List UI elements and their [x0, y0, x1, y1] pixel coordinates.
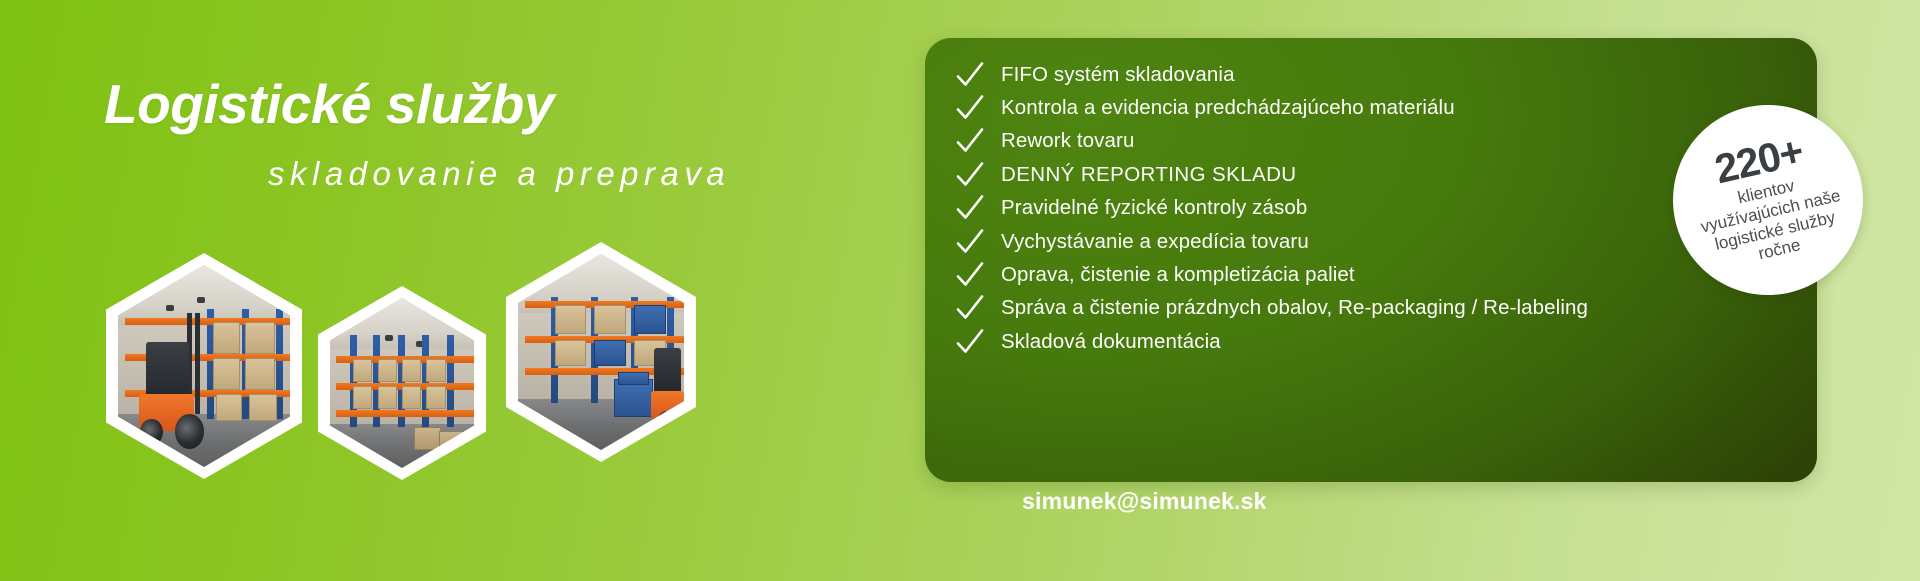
- check-icon: [953, 325, 987, 359]
- logistics-services-banner: Logistické služby skladovanie a preprava: [0, 0, 1920, 581]
- badge-description: klientov využívajúcich naše logistické s…: [1691, 166, 1855, 277]
- service-list-item: Rework tovaru: [953, 125, 1797, 158]
- check-icon: [953, 291, 987, 325]
- service-list-item: Skladová dokumentácia: [953, 325, 1797, 358]
- service-label: Vychystávanie a expedícia tovaru: [1001, 230, 1309, 254]
- check-icon: [953, 225, 987, 259]
- services-list: FIFO systém skladovaniaKontrola a eviden…: [953, 58, 1797, 359]
- warehouse-forklift-photo: [118, 265, 290, 467]
- services-panel: FIFO systém skladovaniaKontrola a eviden…: [925, 38, 1817, 482]
- check-icon: [953, 58, 987, 92]
- service-list-item: Pravidelné fyzické kontroly zásob: [953, 192, 1797, 225]
- hex-photo-frame-2: [318, 286, 486, 480]
- check-icon: [953, 158, 987, 192]
- service-list-item: Kontrola a evidencia predchádzajúceho ma…: [953, 91, 1797, 124]
- service-label: Oprava, čistenie a kompletizácia paliet: [1001, 263, 1355, 287]
- warehouse-blue-crates-photo: [518, 254, 684, 450]
- check-icon: [953, 258, 987, 292]
- service-list-item: Vychystávanie a expedícia tovaru: [953, 225, 1797, 258]
- service-label: FIFO systém skladovania: [1001, 63, 1235, 87]
- service-list-item: FIFO systém skladovania: [953, 58, 1797, 91]
- check-icon: [953, 91, 987, 125]
- service-label: Pravidelné fyzické kontroly zásob: [1001, 196, 1307, 220]
- hex-photo-frame-1: [106, 253, 302, 479]
- service-list-item: Správa a čistenie prázdnych obalov, Re-p…: [953, 292, 1797, 325]
- warehouse-racking-photo: [330, 298, 474, 468]
- check-icon: [953, 124, 987, 158]
- check-icon: [953, 191, 987, 225]
- service-label: DENNÝ REPORTING SKLADU: [1001, 163, 1296, 187]
- hex-photo-frame-3: [506, 242, 696, 462]
- service-label: Kontrola a evidencia predchádzajúceho ma…: [1001, 96, 1455, 120]
- service-label: Rework tovaru: [1001, 129, 1134, 153]
- photo-gallery: [0, 0, 880, 581]
- service-list-item: Oprava, čistenie a kompletizácia paliet: [953, 258, 1797, 291]
- service-label: Správa a čistenie prázdnych obalov, Re-p…: [1001, 296, 1588, 320]
- contact-email-link[interactable]: simunek@simunek.sk: [1022, 488, 1267, 515]
- service-list-item: DENNÝ REPORTING SKLADU: [953, 158, 1797, 191]
- service-label: Skladová dokumentácia: [1001, 330, 1221, 354]
